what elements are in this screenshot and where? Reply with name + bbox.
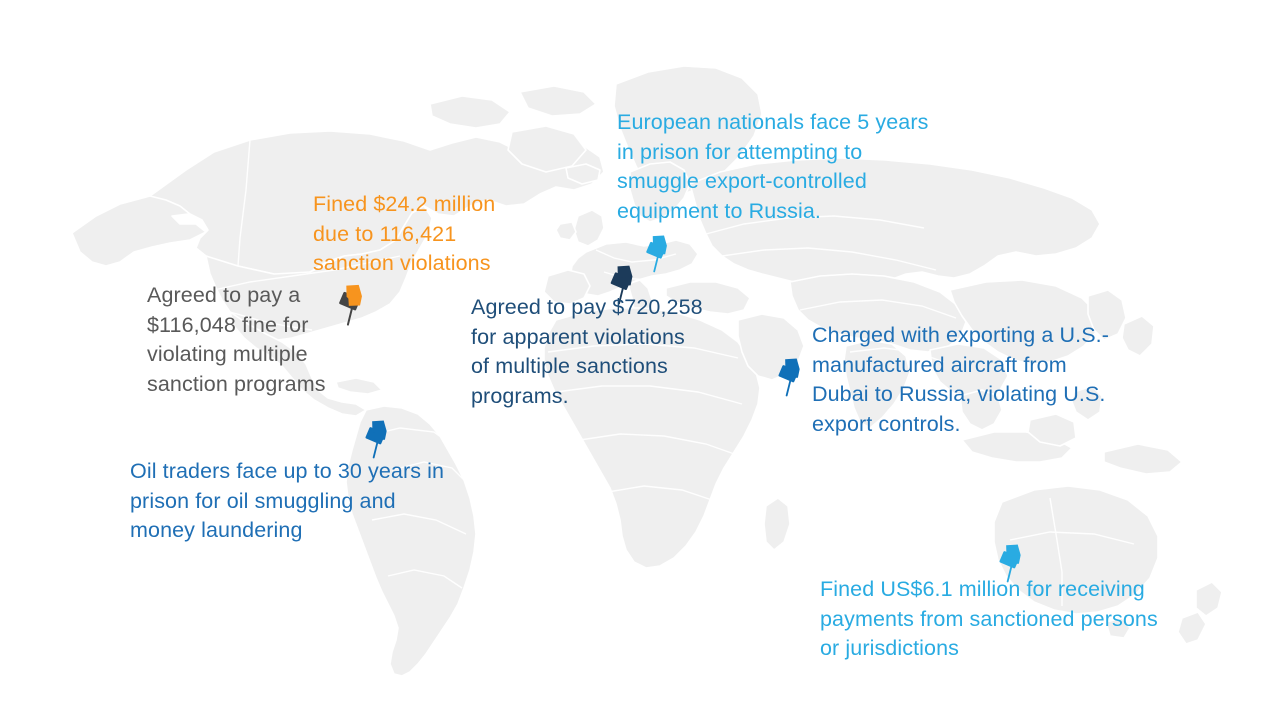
callout-north-america-fine: Agreed to pay a $116,048 fine for violat… xyxy=(147,281,362,399)
callout-australia-fine: Fined US$6.1 million for receiving payme… xyxy=(820,575,1180,664)
south-america-pin-icon[interactable] xyxy=(357,417,396,456)
landmass-arctic-islands-2 xyxy=(520,86,596,116)
callout-south-america-oil-smuggling: Oil traders face up to 30 years in priso… xyxy=(130,457,465,546)
landmass-british-isles xyxy=(574,210,604,246)
callout-europe-prison-sentence: European nationals face 5 years in priso… xyxy=(617,108,947,226)
north-europe-pin-icon[interactable] xyxy=(638,232,676,270)
landmass-new-zealand xyxy=(1196,582,1222,616)
world-map-infographic: Agreed to pay a $116,048 fine for violat… xyxy=(0,0,1280,720)
landmass-new-zealand-south xyxy=(1178,612,1206,644)
middle-east-pin-icon[interactable] xyxy=(770,355,809,394)
landmass-ireland xyxy=(556,222,576,240)
landmass-arctic-islands xyxy=(430,96,510,128)
callout-middle-east-export-charge: Charged with exporting a U.S.- manufactu… xyxy=(812,321,1122,439)
landmass-madagascar xyxy=(764,498,790,550)
callout-europe-settlement-payment: Agreed to pay $720,258 for apparent viol… xyxy=(471,293,726,411)
landmass-new-guinea xyxy=(1104,444,1182,474)
callout-north-america-sanction-violations: Fined $24.2 million due to 116,421 sanct… xyxy=(313,190,528,279)
landmass-japan xyxy=(1122,316,1154,356)
